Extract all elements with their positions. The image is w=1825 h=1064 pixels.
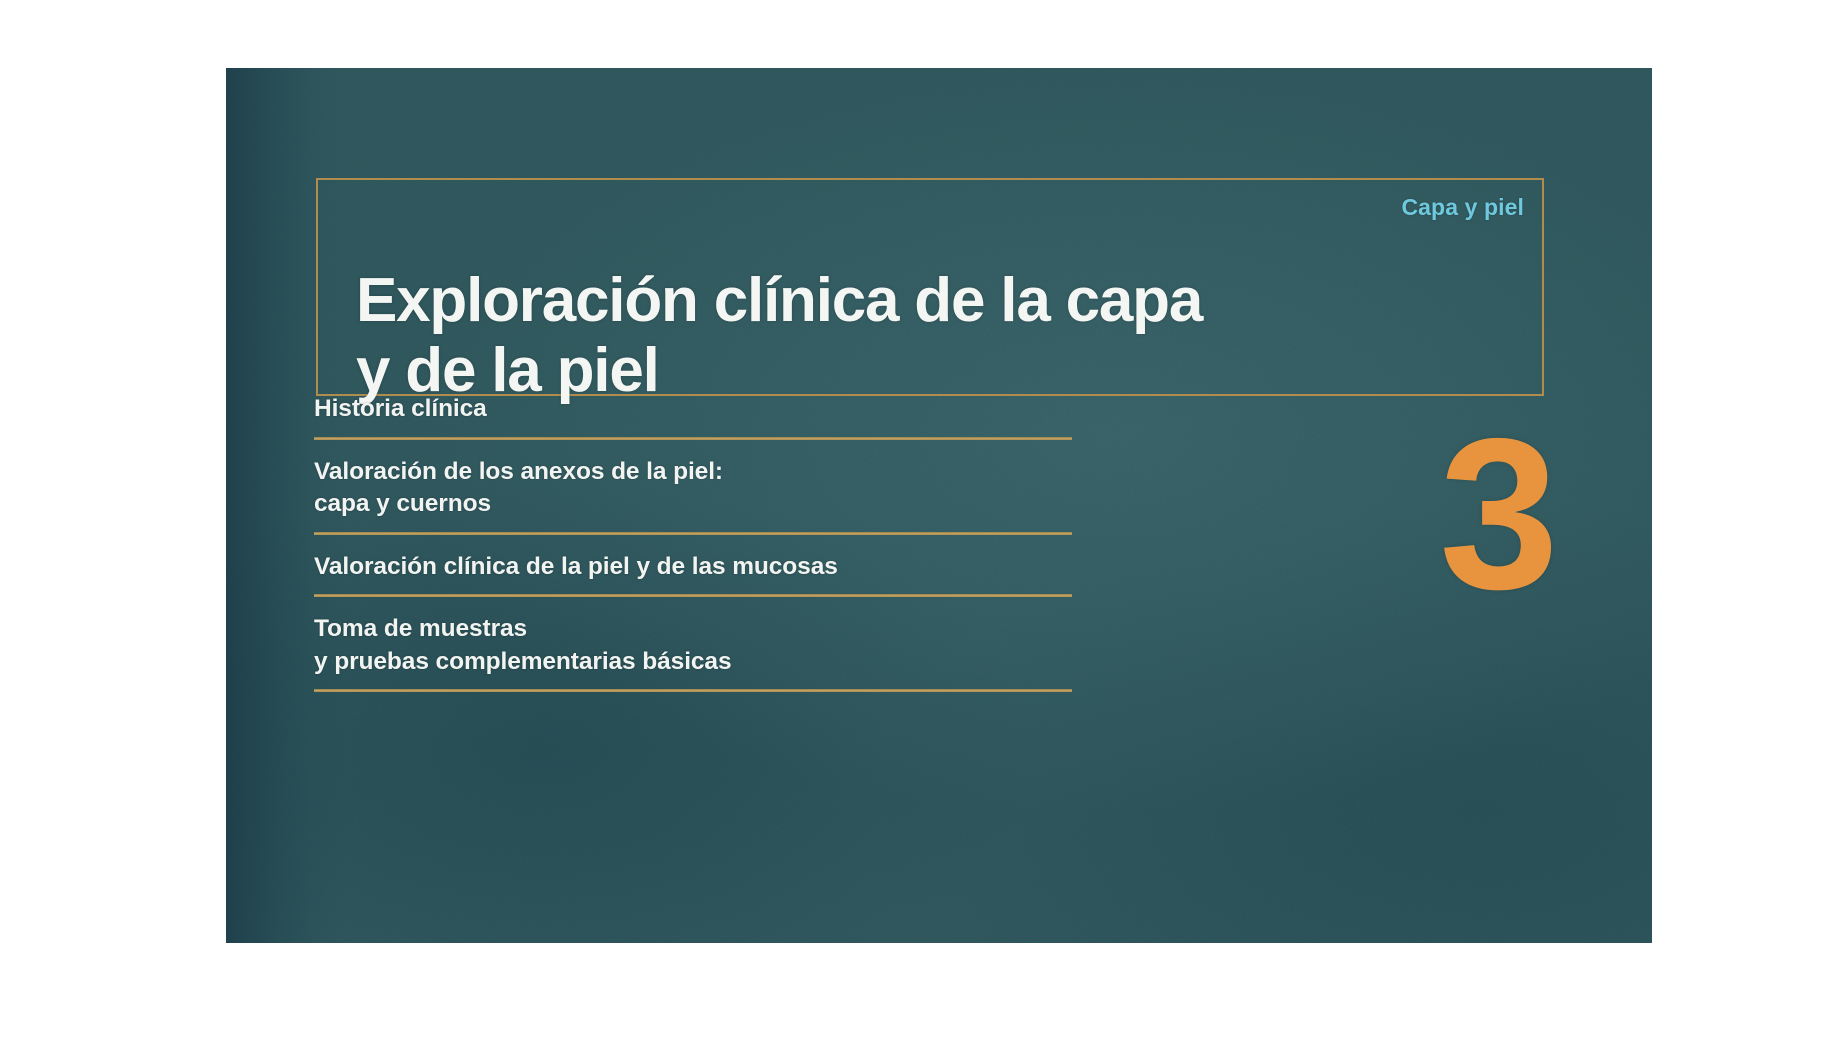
screenshot-canvas: Capa y piel Exploración clínica de la ca… — [0, 0, 1825, 1064]
toc-item-label: Toma de muestras y pruebas complementari… — [314, 613, 1072, 689]
toc-item-label: Valoración clínica de la piel y de las m… — [314, 551, 1072, 595]
toc-divider — [314, 689, 1072, 692]
toc-divider — [314, 532, 1072, 535]
chapter-title-box: Capa y piel Exploración clínica de la ca… — [316, 178, 1544, 396]
page-title: Exploración clínica de la capa y de la p… — [356, 266, 1512, 406]
toc-divider — [314, 437, 1072, 440]
list-item[interactable]: Historia clínica — [314, 393, 1072, 440]
list-item[interactable]: Valoración clínica de la piel y de las m… — [314, 551, 1072, 598]
chapter-contents-list: Historia clínica Valoración de los anexo… — [314, 393, 1072, 708]
section-kicker-label: Capa y piel — [1401, 194, 1524, 221]
chapter-opener-page: Capa y piel Exploración clínica de la ca… — [226, 68, 1652, 943]
chapter-number: 3 — [1416, 406, 1576, 621]
list-item[interactable]: Valoración de los anexos de la piel: cap… — [314, 456, 1072, 535]
toc-divider — [314, 594, 1072, 597]
toc-item-label: Historia clínica — [314, 393, 1072, 437]
toc-item-label: Valoración de los anexos de la piel: cap… — [314, 456, 1072, 532]
list-item[interactable]: Toma de muestras y pruebas complementari… — [314, 613, 1072, 692]
